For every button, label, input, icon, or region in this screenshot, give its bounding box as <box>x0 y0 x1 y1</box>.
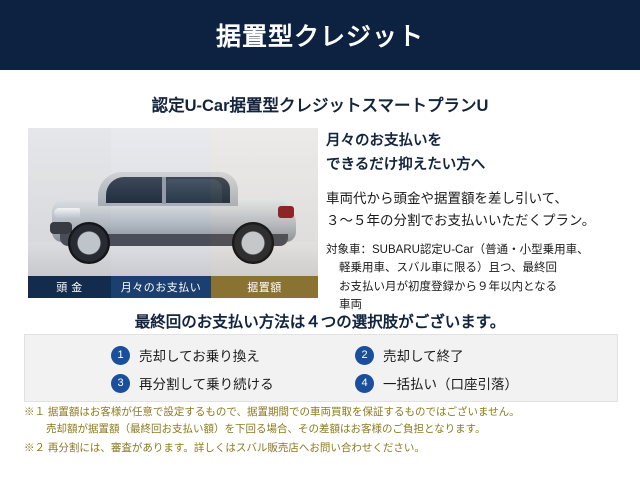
car-pillar <box>162 177 166 204</box>
car-wheel-rear <box>232 222 274 264</box>
footnote-1-line1: ※１ 据置額はお客様が任意で設定するもので、据置期間での車両買取を保証するもので… <box>24 404 624 421</box>
footnotes: ※１ 据置額はお客様が任意で設定するもので、据置期間での車両買取を保証するもので… <box>24 404 624 457</box>
plan-body-line2: ３〜５年の分割でお支払いいただくプラン。 <box>326 210 626 232</box>
page-header: 据置型クレジット <box>0 0 640 70</box>
band-label-residual: 据置額 <box>211 276 318 298</box>
car-illustration-block: 頭 金 月々のお支払い 据置額 <box>28 128 318 298</box>
car-wheel-front <box>68 222 110 264</box>
car-window-rear <box>166 179 222 203</box>
option-label-4: 一括払い（口座引落） <box>383 373 518 393</box>
option-number-1: 1 <box>111 346 130 365</box>
option-item-2[interactable]: 2 売却して終了 <box>355 345 464 365</box>
car-taillight <box>278 206 294 218</box>
plan-body: 車両代から頭金や据置額を差し引いて、 ３〜５年の分割でお支払いいただくプラン。 <box>326 188 626 232</box>
plan-eligibility: 対象車：SUBARU認定U-Car（普通・小型乗用車、 軽乗用車、スバル車に限る… <box>326 241 626 316</box>
plan-description: 月々のお支払いを できるだけ抑えたい方へ 車両代から頭金や据置額を差し引いて、 … <box>326 130 626 315</box>
option-label-3: 再分割して乗り続ける <box>139 373 274 393</box>
band-label-monthly: 月々のお支払い <box>111 276 211 298</box>
header-title: 据置型クレジット <box>216 17 424 53</box>
section-heading: 最終回のお支払い方法は４つの選択肢がございます。 <box>0 310 640 332</box>
plan-body-line1: 車両代から頭金や据置額を差し引いて、 <box>326 188 626 210</box>
option-label-1: 売却してお乗り換え <box>139 345 260 365</box>
option-number-4: 4 <box>355 374 374 393</box>
options-panel: 1 売却してお乗り換え 2 売却して終了 3 再分割して乗り続ける 4 一括払い… <box>24 334 618 402</box>
car-headlight <box>54 208 80 218</box>
car-photo <box>28 128 318 276</box>
page-root: 据置型クレジット 認定U-Car据置型クレジットスマートプランU <box>0 0 640 480</box>
band-label-downpayment: 頭 金 <box>28 276 111 298</box>
plan-eligibility-line2: 軽乗用車、スバル車に限る）且つ、最終回 <box>326 259 626 278</box>
plan-title: 認定U-Car据置型クレジットスマートプランU <box>0 92 640 116</box>
plan-eligibility-line1: 対象車：SUBARU認定U-Car（普通・小型乗用車、 <box>326 241 626 260</box>
plan-headline-line2: できるだけ抑えたい方へ <box>326 154 626 178</box>
footnote-1-line2: 売却額が据置額（最終回お支払い額）を下回る場合、その差額はお客様のご負担となりま… <box>24 421 624 438</box>
footnote-2: ※２ 再分割には、審査があります。詳しくはスバル販売店へお問い合わせください。 <box>24 440 624 457</box>
option-number-2: 2 <box>355 346 374 365</box>
plan-eligibility-line3: お支払い月が初度登録から９年以内となる <box>326 278 626 297</box>
option-item-3[interactable]: 3 再分割して乗り続ける <box>111 373 274 393</box>
option-item-1[interactable]: 1 売却してお乗り換え <box>111 345 260 365</box>
option-label-2: 売却して終了 <box>383 345 464 365</box>
option-item-4[interactable]: 4 一括払い（口座引落） <box>355 373 518 393</box>
car-vehicle <box>46 164 302 260</box>
plan-headline-line1: 月々のお支払いを <box>326 130 626 154</box>
plan-headline: 月々のお支払いを できるだけ抑えたい方へ <box>326 130 626 178</box>
car-grille <box>50 222 72 234</box>
option-number-3: 3 <box>111 374 130 393</box>
